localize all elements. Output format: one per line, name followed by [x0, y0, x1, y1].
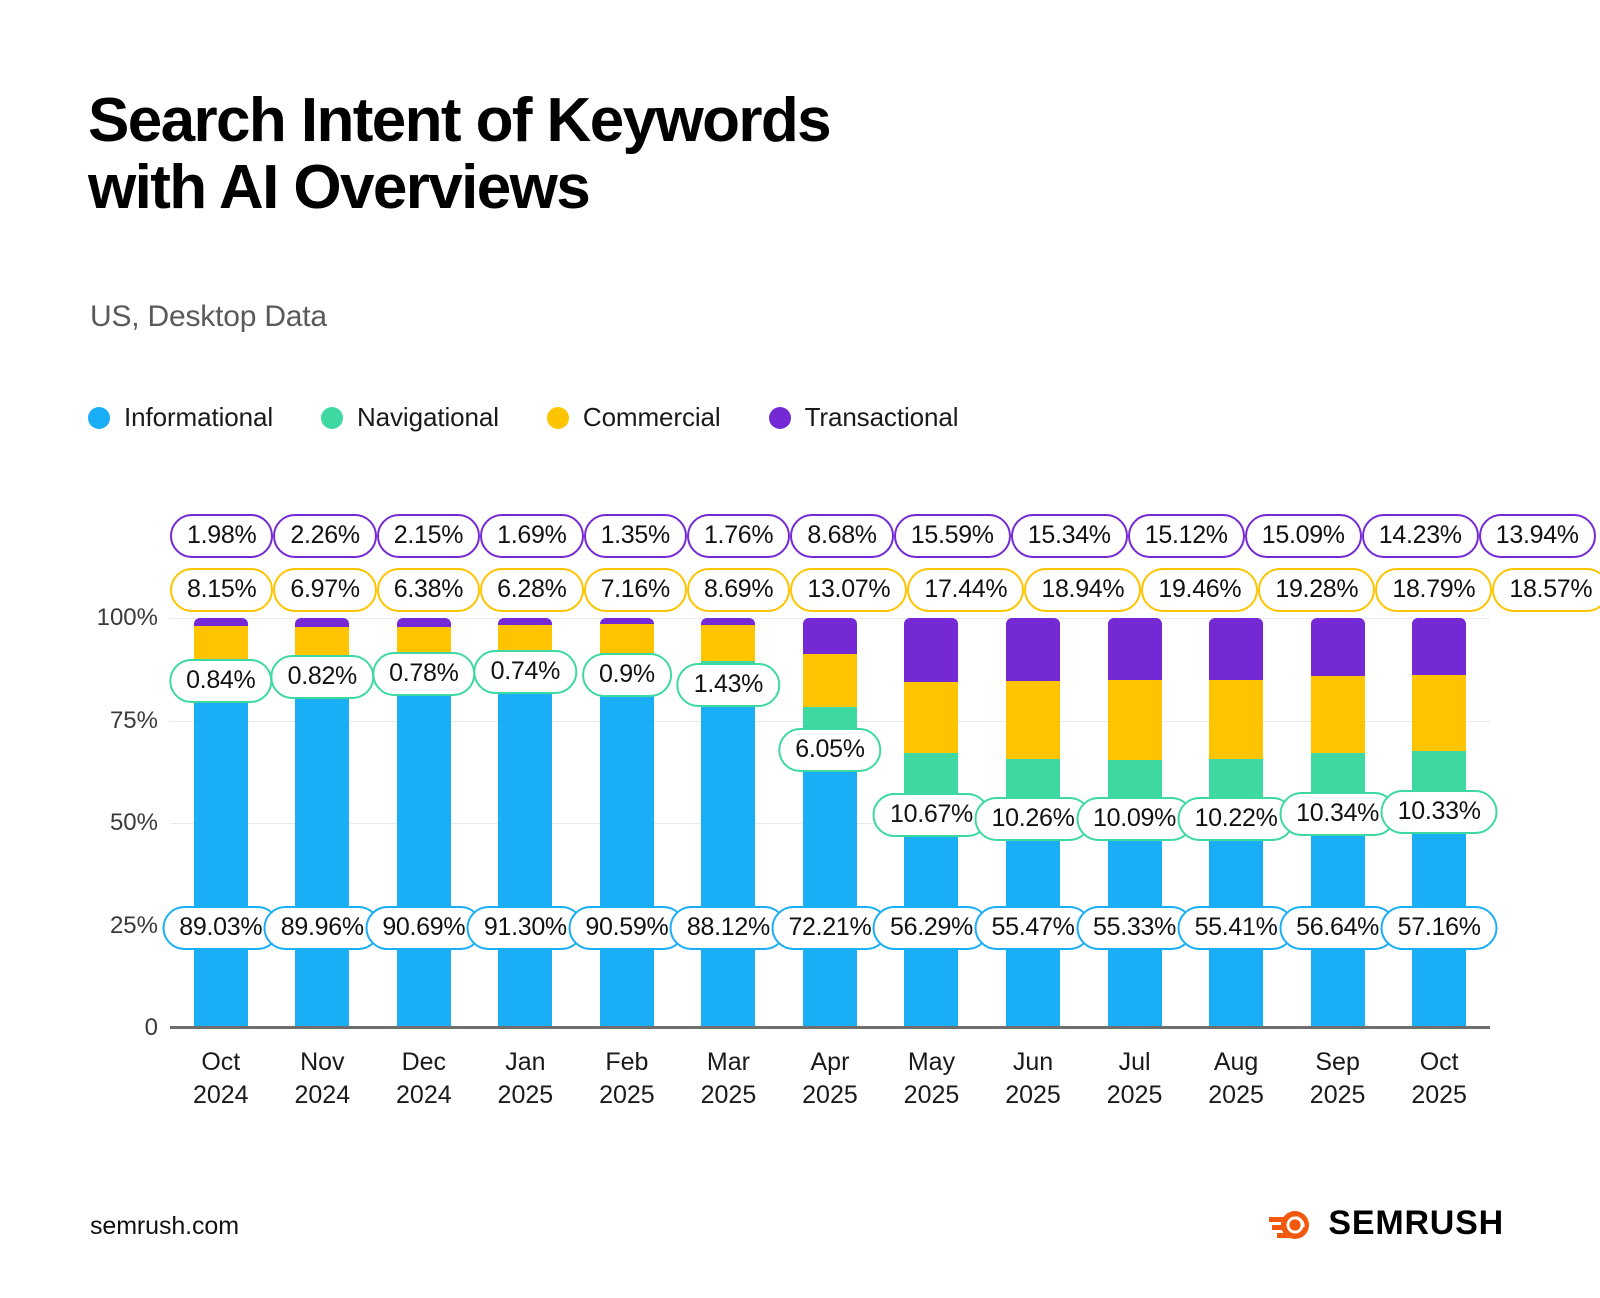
value-label-transactional: 13.94%: [1479, 514, 1596, 558]
pill-cell: 19.46%: [1141, 568, 1258, 612]
y-axis-tick-label: 25%: [38, 912, 158, 940]
value-label-informational: 89.96%: [264, 906, 381, 950]
pill-cell: 90.69%: [373, 618, 475, 1028]
value-label-commercial: 6.28%: [480, 568, 583, 612]
informational-label-row: 89.03%89.96%90.69%91.30%90.59%88.12%72.2…: [170, 618, 1490, 1028]
legend-dot-icon: [321, 407, 343, 429]
value-label-transactional: 15.59%: [894, 514, 1011, 558]
x-axis-label: May2025: [881, 1046, 983, 1112]
value-label-informational: 88.12%: [670, 906, 787, 950]
y-axis-tick-label: 75%: [38, 707, 158, 735]
value-label-informational: 57.16%: [1381, 906, 1498, 950]
x-axis-label-month: Oct: [170, 1046, 272, 1079]
value-label-transactional: 15.09%: [1245, 514, 1362, 558]
x-axis-label-year: 2025: [1185, 1079, 1287, 1112]
title-line-1: Search Intent of Keywords: [88, 86, 830, 155]
x-axis-label: Aug2025: [1185, 1046, 1287, 1112]
x-axis-label-month: Mar: [678, 1046, 780, 1079]
value-label-commercial: 18.79%: [1375, 568, 1492, 612]
value-label-informational: 55.41%: [1178, 906, 1295, 950]
pill-cell: 8.68%: [790, 514, 893, 558]
value-label-transactional: 14.23%: [1362, 514, 1479, 558]
legend-dot-icon: [769, 407, 791, 429]
value-label-commercial: 6.38%: [377, 568, 480, 612]
value-label-commercial: 18.94%: [1024, 568, 1141, 612]
x-axis-label-month: Jul: [1084, 1046, 1186, 1079]
pill-cell: 18.57%: [1492, 568, 1600, 612]
commercial-label-row: 8.15%6.97%6.38%6.28%7.16%8.69%13.07%17.4…: [170, 568, 1490, 612]
x-axis-label-year: 2025: [982, 1079, 1084, 1112]
x-axis-label-month: Dec: [373, 1046, 475, 1079]
x-axis-label-year: 2025: [576, 1079, 678, 1112]
value-label-commercial: 18.57%: [1492, 568, 1600, 612]
x-axis-label-month: Feb: [576, 1046, 678, 1079]
semrush-comet-icon: [1268, 1203, 1314, 1243]
pill-cell: 55.47%: [982, 618, 1084, 1028]
pill-cell: 13.94%: [1479, 514, 1596, 558]
semrush-logo: SEMRUSH: [1268, 1203, 1504, 1243]
legend-item-informational[interactable]: Informational: [88, 402, 273, 433]
value-label-informational: 72.21%: [771, 906, 888, 950]
pill-cell: 90.59%: [576, 618, 678, 1028]
x-axis-label-year: 2025: [1084, 1079, 1186, 1112]
pill-cell: 55.33%: [1084, 618, 1186, 1028]
stacked-bar-chart: 025%50%75%100% 0.84%0.82%0.78%0.74%0.9%1…: [170, 500, 1490, 1030]
x-axis-label-month: Apr: [779, 1046, 881, 1079]
pill-cell: 6.97%: [273, 568, 376, 612]
pill-cell: 18.94%: [1024, 568, 1141, 612]
x-axis-label: Jun2025: [982, 1046, 1084, 1112]
chart-legend: InformationalNavigationalCommercialTrans…: [88, 402, 1006, 433]
semrush-wordmark: SEMRUSH: [1328, 1204, 1504, 1243]
legend-label: Informational: [124, 402, 273, 433]
pill-cell: 56.29%: [881, 618, 983, 1028]
pill-cell: 18.79%: [1375, 568, 1492, 612]
pill-cell: 13.07%: [790, 568, 907, 612]
value-label-commercial: 8.15%: [170, 568, 273, 612]
chart-page: Search Intent of Keywords with AI Overvi…: [0, 0, 1600, 1298]
legend-item-navigational[interactable]: Navigational: [321, 402, 499, 433]
page-title: Search Intent of Keywords with AI Overvi…: [88, 88, 1188, 222]
value-label-transactional: 1.76%: [687, 514, 790, 558]
x-axis-label-year: 2025: [475, 1079, 577, 1112]
value-label-transactional: 1.35%: [584, 514, 687, 558]
pill-cell: 15.34%: [1011, 514, 1128, 558]
value-label-informational: 55.47%: [975, 906, 1092, 950]
value-label-commercial: 8.69%: [687, 568, 790, 612]
x-axis-label-year: 2024: [373, 1079, 475, 1112]
x-axis-label-year: 2025: [1388, 1079, 1490, 1112]
x-axis-label-year: 2024: [272, 1079, 374, 1112]
x-axis-label: Sep2025: [1287, 1046, 1389, 1112]
y-axis-tick-label: 50%: [38, 809, 158, 837]
legend-dot-icon: [88, 407, 110, 429]
pill-cell: 15.12%: [1128, 514, 1245, 558]
pill-cell: 57.16%: [1388, 618, 1490, 1028]
source-url: semrush.com: [90, 1212, 239, 1241]
x-axis-label-year: 2025: [881, 1079, 983, 1112]
pill-cell: 56.64%: [1287, 618, 1389, 1028]
value-label-transactional: 2.26%: [273, 514, 376, 558]
x-axis-label-month: Nov: [272, 1046, 374, 1079]
x-axis-label: Oct2024: [170, 1046, 272, 1112]
x-axis-label-year: 2024: [170, 1079, 272, 1112]
x-axis-label: Dec2024: [373, 1046, 475, 1112]
value-label-commercial: 6.97%: [273, 568, 376, 612]
x-axis-label: Mar2025: [678, 1046, 780, 1112]
pill-cell: 2.26%: [273, 514, 376, 558]
legend-label: Transactional: [805, 402, 959, 433]
pill-cell: 6.28%: [480, 568, 583, 612]
x-axis-label: Jul2025: [1084, 1046, 1186, 1112]
x-axis-label-year: 2025: [1287, 1079, 1389, 1112]
x-axis-label-month: Sep: [1287, 1046, 1389, 1079]
pill-cell: 1.35%: [584, 514, 687, 558]
value-label-informational: 55.33%: [1076, 906, 1193, 950]
legend-label: Commercial: [583, 402, 721, 433]
value-label-informational: 89.03%: [162, 906, 279, 950]
title-line-2: with AI Overviews: [88, 153, 589, 222]
value-label-informational: 90.59%: [568, 906, 685, 950]
pill-cell: 89.03%: [170, 618, 272, 1028]
pill-cell: 89.96%: [272, 618, 374, 1028]
pill-cell: 1.98%: [170, 514, 273, 558]
page-subtitle: US, Desktop Data: [90, 300, 327, 334]
value-label-transactional: 2.15%: [377, 514, 480, 558]
value-label-transactional: 15.34%: [1011, 514, 1128, 558]
pill-cell: 1.69%: [480, 514, 583, 558]
y-axis-tick-label: 100%: [38, 604, 158, 632]
x-axis-label-month: Aug: [1185, 1046, 1287, 1079]
legend-label: Navigational: [357, 402, 499, 433]
x-axis-label: Nov2024: [272, 1046, 374, 1112]
pill-cell: 72.21%: [779, 618, 881, 1028]
pill-cell: 7.16%: [584, 568, 687, 612]
value-label-commercial: 19.28%: [1258, 568, 1375, 612]
x-axis-label: Oct2025: [1388, 1046, 1490, 1112]
pill-cell: 8.15%: [170, 568, 273, 612]
value-label-transactional: 1.69%: [480, 514, 583, 558]
x-axis-label-month: Oct: [1388, 1046, 1490, 1079]
legend-item-commercial[interactable]: Commercial: [547, 402, 721, 433]
x-axis-label-month: May: [881, 1046, 983, 1079]
value-label-commercial: 13.07%: [790, 568, 907, 612]
value-label-transactional: 8.68%: [790, 514, 893, 558]
plot-area: 025%50%75%100% 0.84%0.82%0.78%0.74%0.9%1…: [170, 618, 1490, 1028]
x-axis-label-year: 2025: [678, 1079, 780, 1112]
value-label-commercial: 19.46%: [1141, 568, 1258, 612]
pill-cell: 88.12%: [678, 618, 780, 1028]
pill-cell: 6.38%: [377, 568, 480, 612]
pill-cell: 1.76%: [687, 514, 790, 558]
value-label-transactional: 15.12%: [1128, 514, 1245, 558]
transactional-label-row: 1.98%2.26%2.15%1.69%1.35%1.76%8.68%15.59…: [170, 514, 1490, 558]
pill-cell: 8.69%: [687, 568, 790, 612]
value-label-informational: 56.29%: [873, 906, 990, 950]
pill-cell: 15.59%: [894, 514, 1011, 558]
legend-item-transactional[interactable]: Transactional: [769, 402, 959, 433]
x-axis-label-month: Jun: [982, 1046, 1084, 1079]
value-label-commercial: 7.16%: [584, 568, 687, 612]
pill-cell: 17.44%: [907, 568, 1024, 612]
pill-cell: 19.28%: [1258, 568, 1375, 612]
value-label-informational: 90.69%: [365, 906, 482, 950]
pill-cell: 55.41%: [1185, 618, 1287, 1028]
pill-cell: 2.15%: [377, 514, 480, 558]
x-axis-label: Apr2025: [779, 1046, 881, 1112]
pill-cell: 14.23%: [1362, 514, 1479, 558]
x-axis-label-month: Jan: [475, 1046, 577, 1079]
x-axis-label-year: 2025: [779, 1079, 881, 1112]
legend-dot-icon: [547, 407, 569, 429]
y-axis-tick-label: 0: [38, 1014, 158, 1042]
pill-cell: 15.09%: [1245, 514, 1362, 558]
value-label-commercial: 17.44%: [907, 568, 1024, 612]
x-axis-labels: Oct2024Nov2024Dec2024Jan2025Feb2025Mar20…: [170, 1046, 1490, 1112]
x-axis-label: Jan2025: [475, 1046, 577, 1112]
value-label-informational: 56.64%: [1279, 906, 1396, 950]
value-label-informational: 91.30%: [467, 906, 584, 950]
value-label-transactional: 1.98%: [170, 514, 273, 558]
pill-cell: 91.30%: [475, 618, 577, 1028]
x-axis-label: Feb2025: [576, 1046, 678, 1112]
